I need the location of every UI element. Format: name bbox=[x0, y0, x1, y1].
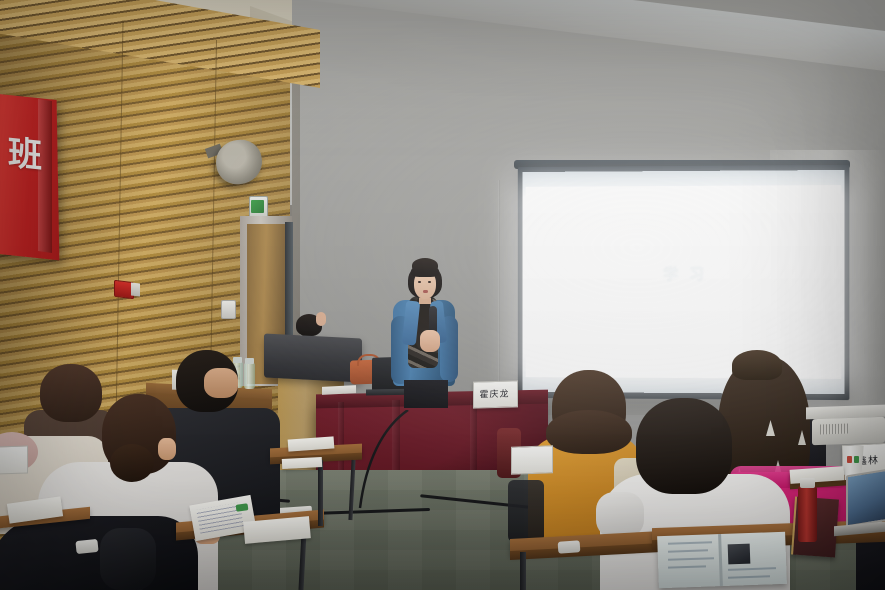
attendee-fur-collar-body bbox=[0, 516, 198, 590]
projection-screen-text: 学 习 bbox=[630, 263, 740, 284]
chair[interactable] bbox=[508, 480, 544, 542]
banner-text: 班 bbox=[6, 134, 46, 176]
cup-marking bbox=[854, 456, 859, 463]
podium-top bbox=[264, 333, 362, 382]
presenter-eye-left bbox=[418, 281, 421, 283]
water-bottle-cap bbox=[233, 357, 242, 363]
exit-sign-glyph bbox=[251, 200, 264, 213]
thermos-bottle bbox=[798, 486, 817, 542]
wall-seam bbox=[498, 180, 500, 395]
name-placard-head-table-text: 霍庆龙 bbox=[477, 387, 512, 401]
light-switch-icon[interactable] bbox=[221, 300, 236, 319]
name-placard-left bbox=[0, 445, 28, 474]
presenter-eye-right bbox=[428, 281, 431, 283]
hanging-cable bbox=[352, 410, 412, 510]
classroom-photo-scene: 班 学 习 霍庆龙 bbox=[0, 0, 885, 590]
cup-marking bbox=[847, 456, 852, 463]
mobile-phone-left[interactable] bbox=[75, 539, 98, 554]
attendee-black-jacket-face bbox=[204, 368, 238, 398]
fire-alarm-plate bbox=[131, 282, 140, 296]
presenter-mouth bbox=[423, 290, 428, 293]
attendee-white-shirt-head bbox=[636, 398, 732, 494]
thermos-cap bbox=[800, 478, 815, 488]
desk-leg bbox=[520, 552, 526, 590]
laptop-right[interactable] bbox=[846, 469, 885, 528]
chair-back-rest[interactable] bbox=[100, 528, 156, 590]
name-placard-middle bbox=[511, 445, 553, 474]
book-photo bbox=[728, 544, 751, 565]
attendee-long-hair-crown bbox=[732, 350, 782, 380]
presenter-skirt bbox=[404, 380, 448, 408]
presenter-hands bbox=[420, 330, 440, 352]
attendee-white-sweater-face bbox=[158, 438, 176, 460]
attendee-white-sweater-bun bbox=[110, 444, 154, 482]
presenter-hair-bun bbox=[412, 258, 438, 273]
person-behind-podium-hand bbox=[316, 312, 326, 326]
water-bottle-cap bbox=[245, 358, 254, 364]
attendee-brown-top-head bbox=[40, 364, 102, 422]
mobile-phone-right[interactable] bbox=[558, 540, 581, 554]
attendee-mustard-hair bbox=[546, 410, 632, 454]
water-bottle bbox=[244, 363, 255, 389]
paper-stack bbox=[282, 457, 322, 469]
desk-leg bbox=[318, 460, 323, 526]
attendee-white-shirt-arm bbox=[596, 492, 644, 538]
projector-vent bbox=[820, 424, 848, 435]
